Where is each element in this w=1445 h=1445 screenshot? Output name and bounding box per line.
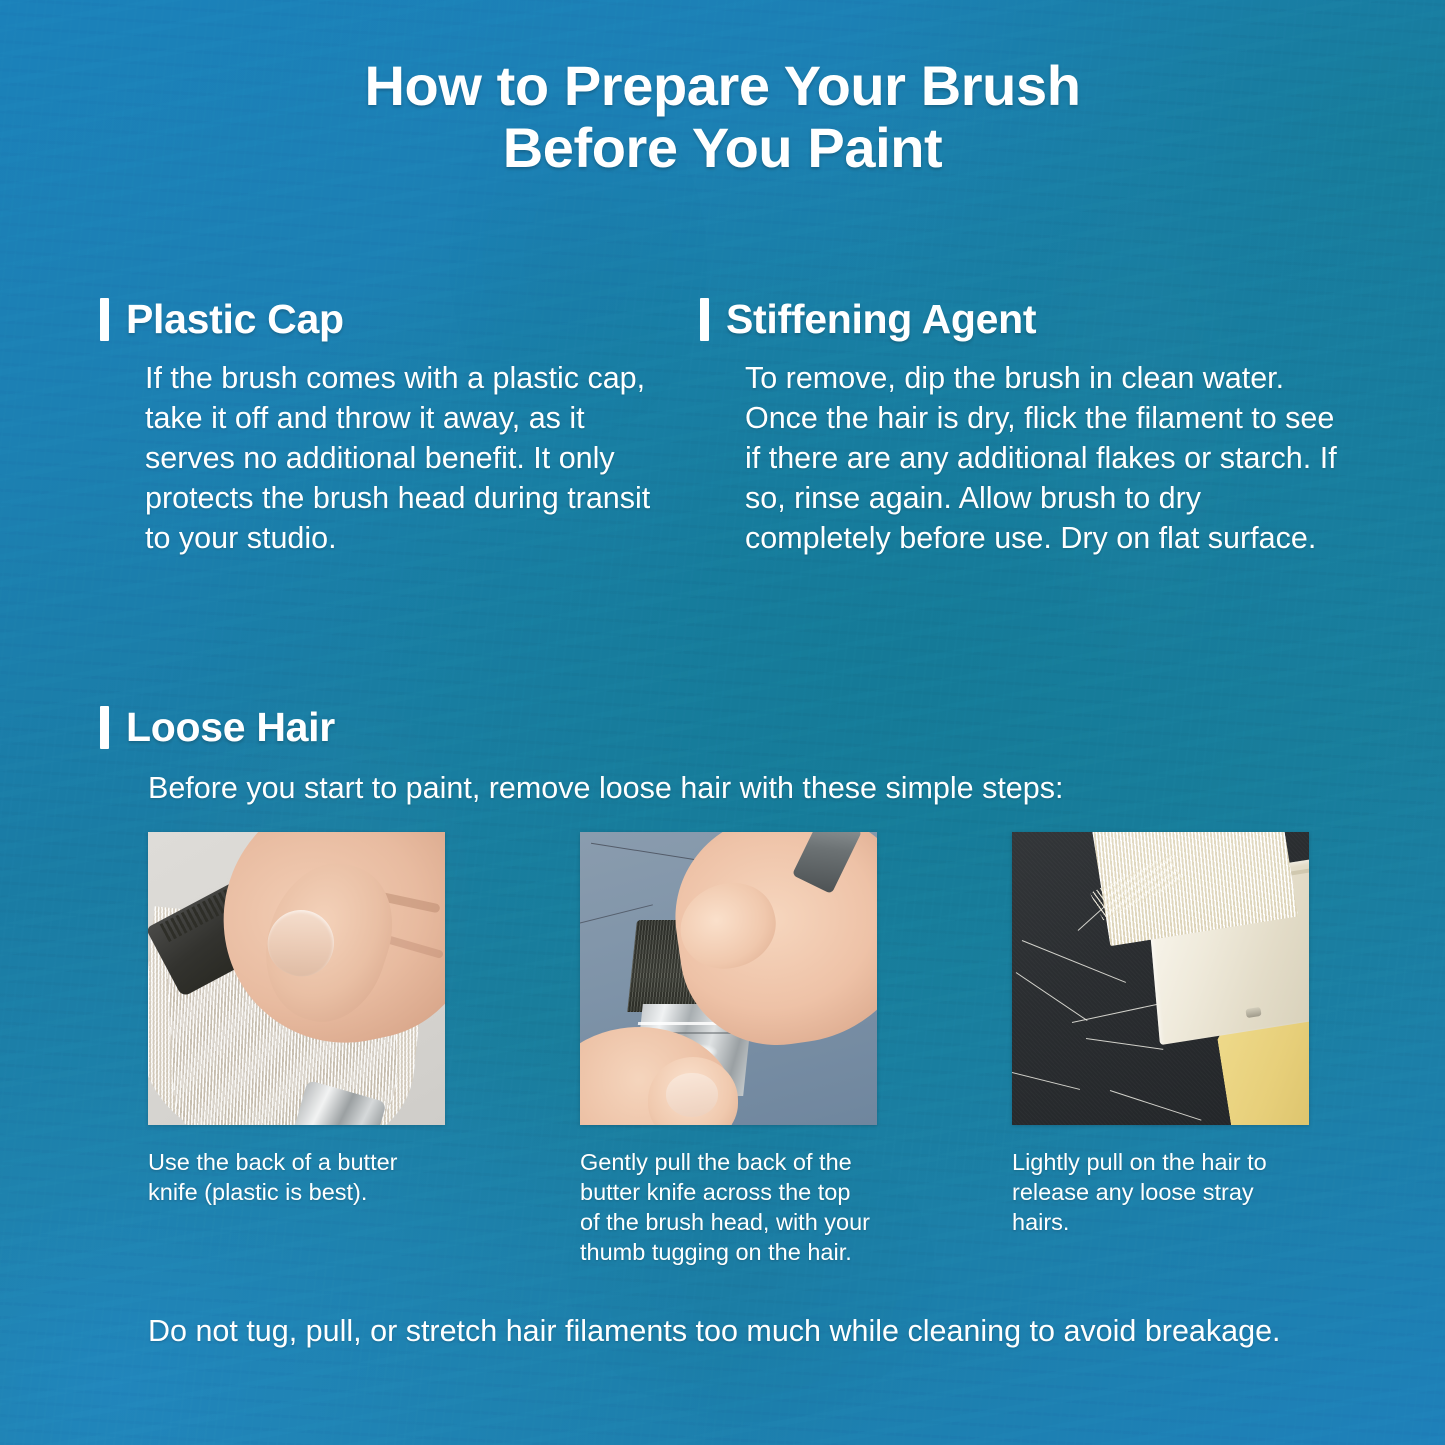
step-1: Use the back of a butter knife (plastic … xyxy=(148,832,445,1267)
steps-photo-row: Use the back of a butter knife (plastic … xyxy=(148,832,1308,1267)
title-line-1: How to Prepare Your Brush xyxy=(364,54,1080,117)
photo-butter-knife-on-brush xyxy=(148,832,445,1125)
section-body-stiffening-agent: To remove, dip the brush in clean water.… xyxy=(700,359,1350,559)
footer-warning-text: Do not tug, pull, or stretch hair filame… xyxy=(148,1311,1328,1352)
section-heading-row: Plastic Cap xyxy=(100,298,675,341)
section-stiffening-agent: Stiffening Agent To remove, dip the brus… xyxy=(700,298,1350,559)
accent-bar-icon xyxy=(700,298,709,341)
step-2-caption: Gently pull the back of the butter knife… xyxy=(580,1147,877,1267)
section-title-plastic-cap: Plastic Cap xyxy=(126,299,344,340)
step-3: Lightly pull on the hair to release any … xyxy=(1012,832,1309,1267)
infographic-poster: How to Prepare Your Brush Before You Pai… xyxy=(0,0,1445,1445)
page-title: How to Prepare Your Brush Before You Pai… xyxy=(0,55,1445,178)
section-title-loose-hair: Loose Hair xyxy=(126,707,335,748)
accent-bar-icon xyxy=(100,298,109,341)
title-line-2: Before You Paint xyxy=(0,117,1445,179)
section-title-stiffening-agent: Stiffening Agent xyxy=(726,299,1036,340)
section-heading-row: Stiffening Agent xyxy=(700,298,1350,341)
lower-thumbnail xyxy=(666,1073,718,1117)
section-body-plastic-cap: If the brush comes with a plastic cap, t… xyxy=(100,359,675,559)
step-1-caption: Use the back of a butter knife (plastic … xyxy=(148,1147,445,1207)
step-3-caption: Lightly pull on the hair to release any … xyxy=(1012,1147,1309,1237)
accent-bar-icon xyxy=(100,706,109,749)
section-plastic-cap: Plastic Cap If the brush comes with a pl… xyxy=(100,298,675,559)
section-loose-hair: Loose Hair Before you start to paint, re… xyxy=(100,706,1360,809)
section-heading-row: Loose Hair xyxy=(100,706,1360,749)
photo-pulling-knife-across-brush xyxy=(580,832,877,1125)
photo-loose-stray-hairs xyxy=(1012,832,1309,1125)
step-2: Gently pull the back of the butter knife… xyxy=(580,832,877,1267)
loose-hair-subtitle: Before you start to paint, remove loose … xyxy=(100,769,1360,809)
